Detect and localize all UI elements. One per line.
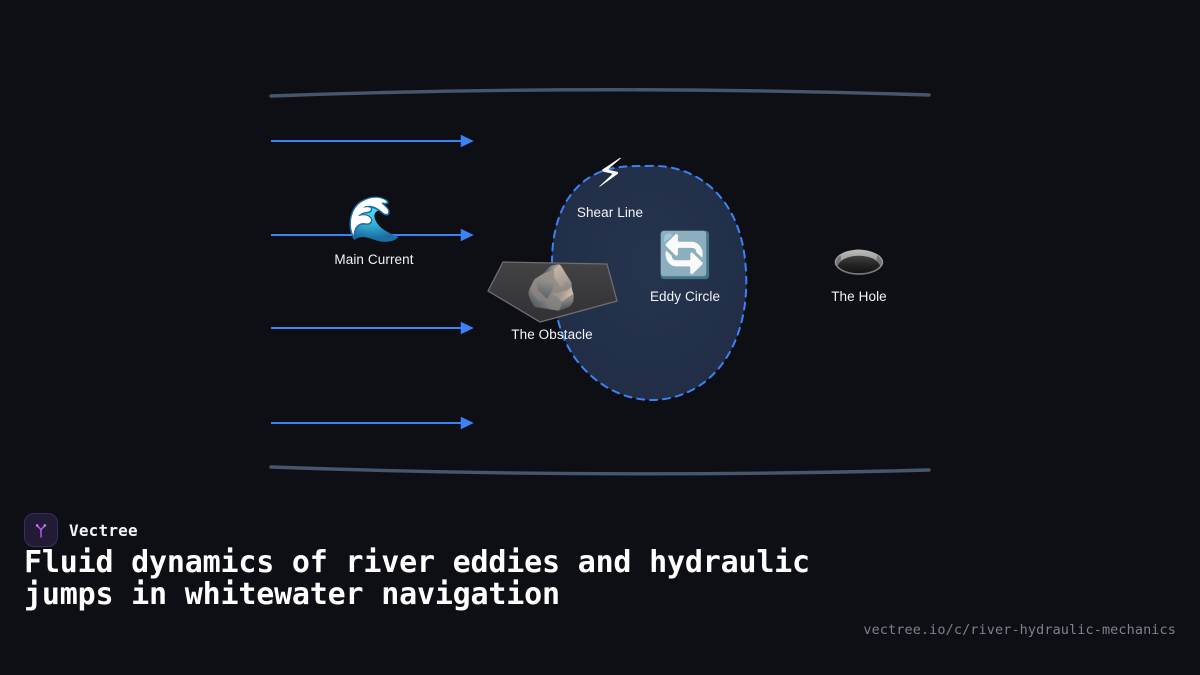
- diagram-svg: [0, 0, 1200, 500]
- river-bank-bottom-line: [271, 467, 929, 474]
- footer: Vectree Fluid dynamics of river eddies a…: [0, 500, 1200, 675]
- vectree-logo: [24, 513, 58, 547]
- main-current-label: Main Current: [334, 252, 413, 267]
- brand-name: Vectree: [69, 521, 138, 540]
- vectree-tree-icon: [31, 520, 51, 540]
- hole-emoji: 🕳️: [832, 234, 887, 278]
- river-diagram: 🌊 Main Current ⚡ Shear Line 🪨 The Obstac…: [0, 0, 1200, 500]
- shear-line-label: Shear Line: [577, 205, 643, 220]
- obstacle-label: The Obstacle: [511, 327, 593, 342]
- wave-emoji: 🌊: [347, 198, 402, 242]
- lightning-bolt-emoji: ⚡: [596, 154, 624, 194]
- screenshot-canvas: 🌊 Main Current ⚡ Shear Line 🪨 The Obstac…: [0, 0, 1200, 675]
- eddy-circle-label: Eddy Circle: [650, 289, 720, 304]
- rock-emoji: 🪨: [525, 266, 580, 310]
- footer-url[interactable]: vectree.io/c/river-hydraulic-mechanics: [863, 622, 1176, 638]
- river-bank-top-line: [271, 90, 929, 96]
- brand-row[interactable]: Vectree: [24, 513, 138, 547]
- counterclockwise-arrows-emoji: 🔄: [658, 234, 713, 278]
- the-hole-label: The Hole: [831, 289, 887, 304]
- flow-arrow-group: [271, 141, 462, 423]
- page-title: Fluid dynamics of river eddies and hydra…: [24, 547, 814, 611]
- hole-rails: [788, 186, 930, 376]
